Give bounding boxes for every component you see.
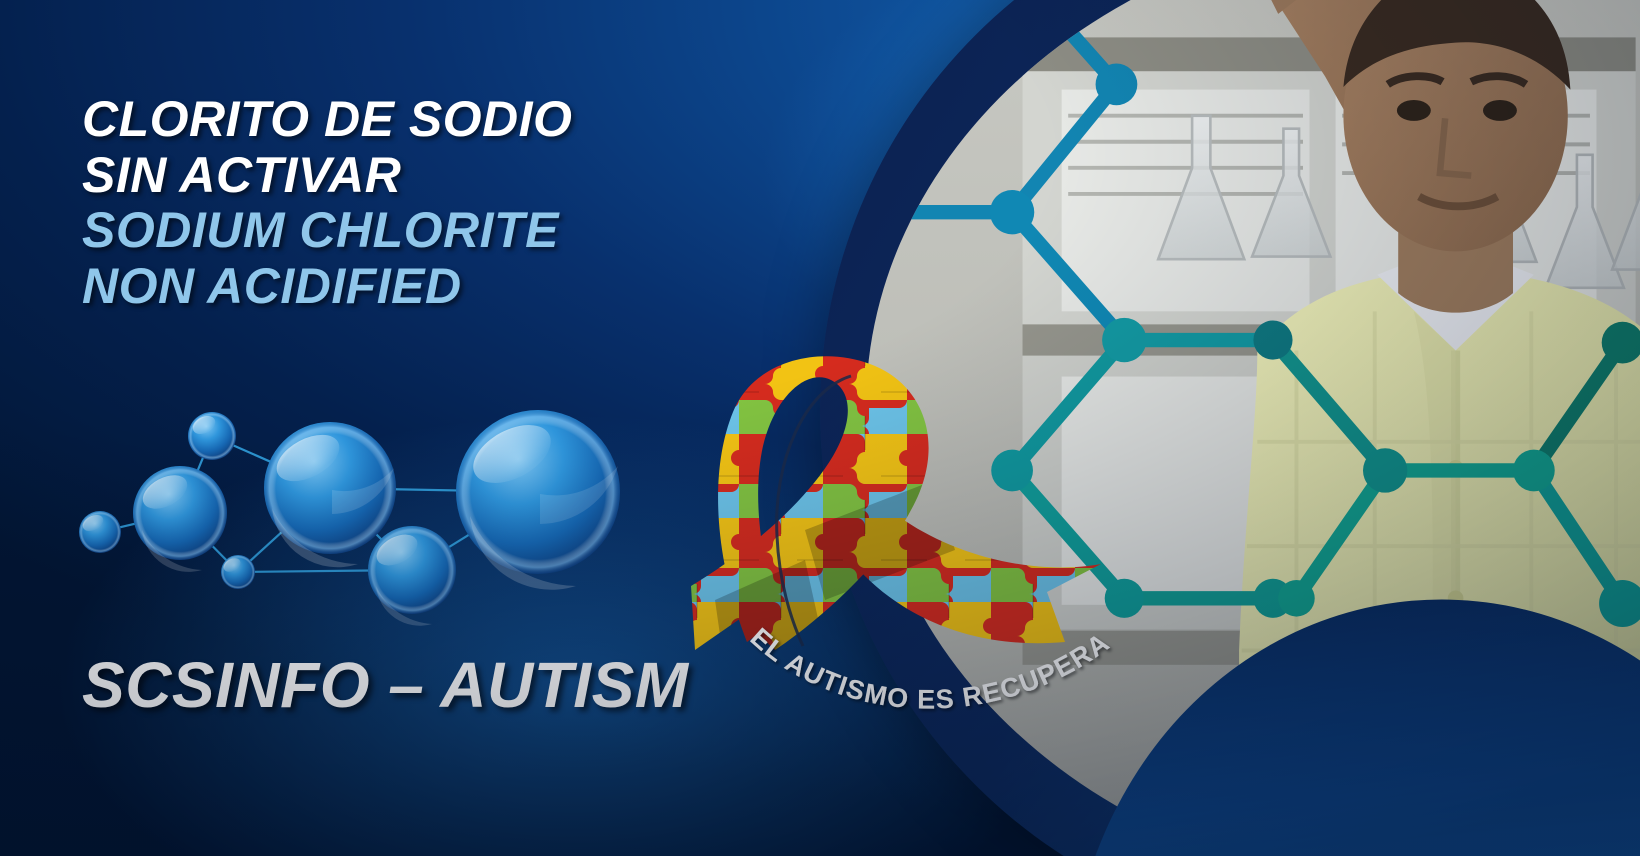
molecule-graphic <box>60 380 620 630</box>
brand-title: SCSINFO – AUTISM <box>82 648 689 722</box>
headline-block: CLORITO DE SODIO SIN ACTIVAR SODIUM CHLO… <box>82 94 782 316</box>
ribbon-svg <box>655 350 1125 690</box>
autism-puzzle-ribbon <box>655 350 1125 690</box>
promo-banner: CLORITO DE SODIO SIN ACTIVAR SODIUM CHLO… <box>0 0 1640 856</box>
headline-line-2: SIN ACTIVAR <box>82 150 782 202</box>
molecule-svg <box>60 380 620 630</box>
headline-line-3: SODIUM CHLORITE <box>82 205 782 257</box>
molecule-atoms <box>79 410 620 626</box>
headline-line-4: NON ACIDIFIED <box>82 261 782 313</box>
headline-line-1: CLORITO DE SODIO <box>82 94 782 146</box>
